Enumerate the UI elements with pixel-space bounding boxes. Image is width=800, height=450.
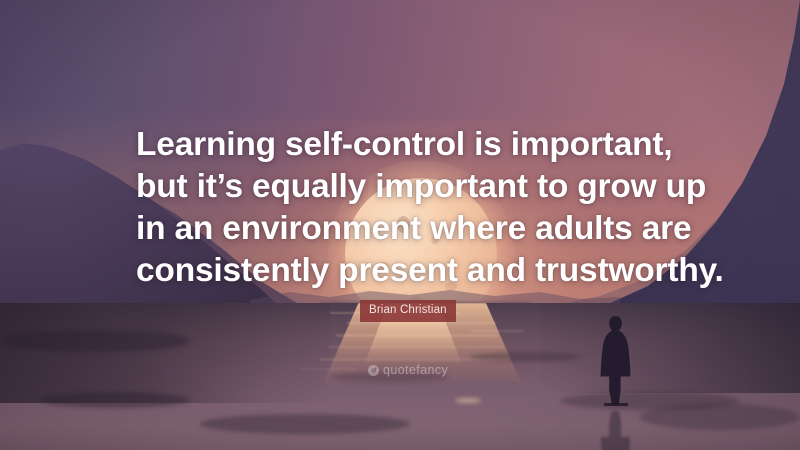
quotefancy-watermark[interactable]: qf quotefancy — [368, 364, 448, 377]
author-badge: Brian Christian — [360, 300, 456, 322]
water-ripple — [470, 330, 524, 332]
water-ripple — [328, 346, 504, 348]
water-ripple — [300, 368, 358, 370]
figure-body — [601, 316, 631, 405]
water-shadow-left — [0, 303, 330, 403]
water-ripple — [336, 334, 498, 337]
quote-line-2: but it’s equally important to grow up — [136, 166, 696, 208]
quote-line-4: consistently present and trustworthy. — [136, 250, 696, 292]
sand-patch — [40, 392, 190, 408]
figure-ground-shadow — [604, 403, 628, 406]
water-ripple — [346, 322, 496, 324]
sand-patch — [0, 330, 190, 352]
standing-person-silhouette — [596, 315, 636, 412]
sand-patch — [200, 414, 410, 434]
quotefancy-circle-logo-icon: qf — [368, 365, 379, 376]
figure-reflection-shape — [601, 411, 630, 450]
quote-wallpaper: Learning self-control is important, but … — [0, 0, 800, 450]
quote-line-3: in an environment where adults are — [136, 208, 696, 250]
sand-patch — [470, 352, 580, 362]
sand-patch — [640, 404, 800, 430]
quote-text: Learning self-control is important, but … — [136, 124, 696, 292]
watermark-brand-label: quotefancy — [383, 364, 448, 377]
light-glint — [455, 398, 481, 403]
water-shadow-right — [540, 303, 800, 393]
quote-line-1: Learning self-control is important, — [136, 124, 696, 166]
